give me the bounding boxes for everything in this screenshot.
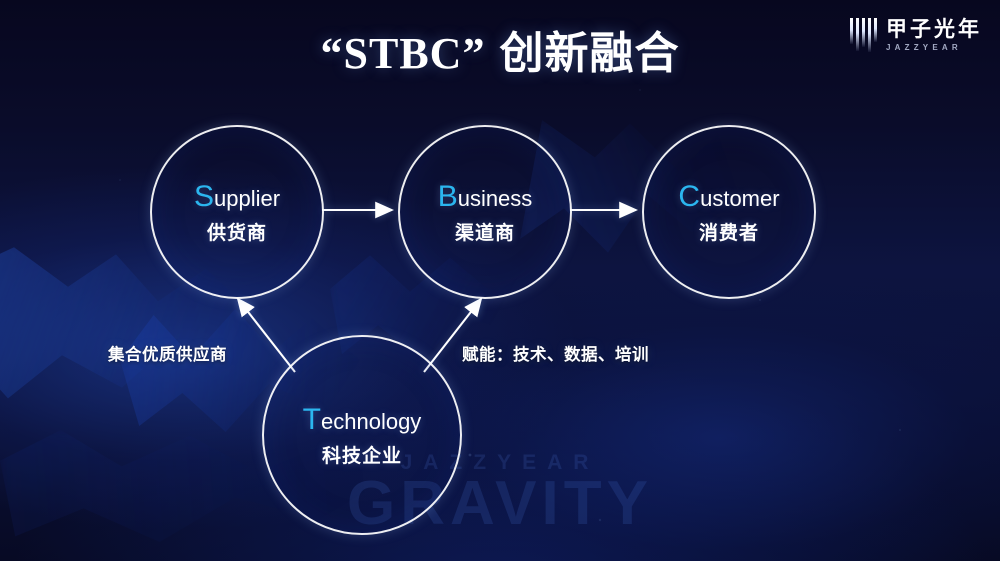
node-supplier-rest: upplier	[214, 186, 280, 211]
edge-label-technology-to-supplier: 集合优质供应商	[108, 341, 227, 365]
node-technology[interactable]: Technology 科技企业	[262, 335, 462, 535]
node-customer-initial: C	[678, 180, 700, 213]
node-business-en: Business	[438, 180, 533, 213]
node-business[interactable]: Business 渠道商	[398, 125, 572, 299]
node-business-rest: usiness	[458, 186, 533, 211]
node-business-cn: 渠道商	[455, 218, 515, 245]
edge-technology-to-supplier	[238, 299, 295, 372]
node-technology-en: Technology	[303, 403, 422, 436]
node-technology-initial: T	[303, 403, 321, 436]
node-business-initial: B	[438, 180, 458, 213]
stbc-diagram: Supplier 供货商 Business 渠道商 Customer 消费者 T…	[0, 0, 1000, 561]
node-customer-rest: ustomer	[700, 186, 779, 211]
node-supplier-cn: 供货商	[207, 218, 267, 245]
edge-label-technology-to-business: 赋能：技术、数据、培训	[462, 341, 649, 365]
node-customer-cn: 消费者	[699, 218, 759, 245]
node-supplier-en: Supplier	[194, 180, 280, 213]
node-supplier-initial: S	[194, 180, 214, 213]
node-technology-cn: 科技企业	[322, 441, 402, 468]
node-supplier[interactable]: Supplier 供货商	[150, 125, 324, 299]
node-customer[interactable]: Customer 消费者	[642, 125, 816, 299]
node-customer-en: Customer	[678, 180, 779, 213]
node-technology-rest: echnology	[321, 409, 421, 434]
slide-canvas: JAZZYEAR GRAVITY “STBC”创新融合 甲子光年 JAZZYEA…	[0, 0, 1000, 561]
